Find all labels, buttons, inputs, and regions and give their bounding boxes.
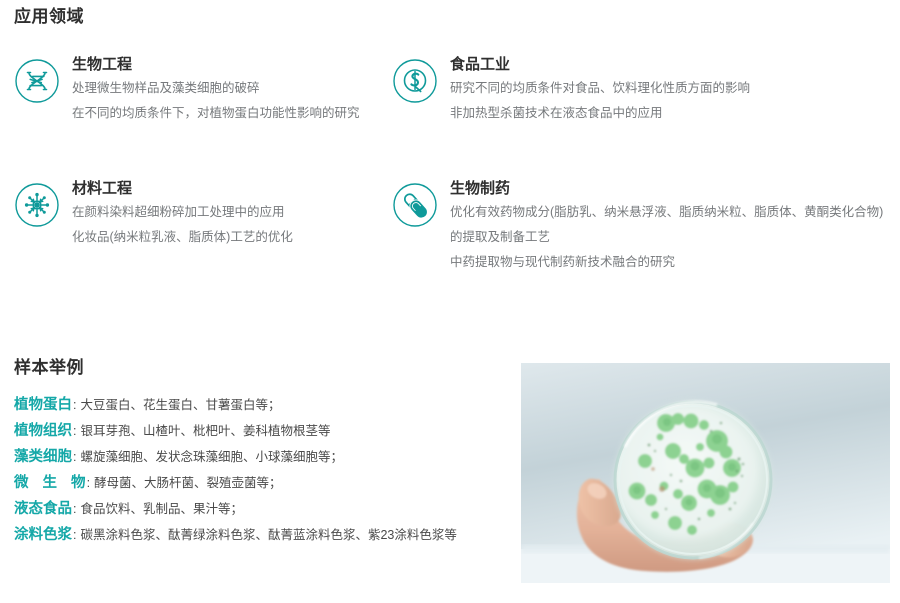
sample-value: 银耳芽孢、山楂叶、枇杷叶、姜科植物根茎等 [80, 422, 494, 440]
sample-label: 植物组织 [14, 422, 72, 440]
card-body: 生物制药 优化有效药物成分(脂肪乳、纳米悬浮液、脂质纳米粒、脂质体、黄酮类化合物… [450, 178, 892, 270]
application-card-biopharmaceutical: 生物制药 优化有效药物成分(脂肪乳、纳米悬浮液、脂质纳米粒、脂质体、黄酮类化合物… [392, 178, 892, 270]
card-body: 食品工业 研究不同的均质条件对食品、饮料理化性质方面的影响 非加热型杀菌技术在液… [450, 54, 892, 121]
card-line: 在不同的均质条件下，对植物蛋白功能性影响的研究 [72, 105, 394, 121]
card-title: 材料工程 [72, 179, 394, 199]
sample-label: 微 生 物 [14, 474, 91, 492]
card-line: 在颜料染料超细粉碎加工处理中的应用 [72, 204, 394, 220]
list-item: 微 生 物 : 酵母菌、大肠杆菌、裂殖壶菌等； [14, 474, 494, 492]
sample-label: 涂料色浆 [14, 526, 72, 544]
sample-separator: : [72, 396, 80, 414]
sample-separator: : [72, 526, 80, 544]
sample-separator: : [72, 500, 80, 518]
card-line: 处理微生物样品及藻类细胞的破碎 [72, 80, 394, 96]
sample-separator: : [72, 422, 80, 440]
list-item: 植物蛋白 : 大豆蛋白、花生蛋白、甘薯蛋白等； [14, 396, 494, 414]
list-item: 涂料色浆 : 碳黑涂料色浆、酞菁绿涂料色浆、酞菁蓝涂料色浆、紫23涂料色浆等 [14, 526, 494, 544]
dna-helix-icon [14, 58, 60, 104]
petri-dish-photo [521, 363, 890, 583]
card-line: 研究不同的均质条件对食品、饮料理化性质方面的影响 [450, 80, 892, 96]
application-card-material-engineering: 材料工程 在颜料染料超细粉碎加工处理中的应用 化妆品(纳米粒乳液、脂质体)工艺的… [14, 178, 394, 245]
sample-label: 液态食品 [14, 500, 72, 518]
page-title-applications: 应用领域 [14, 2, 84, 27]
list-item: 液态食品 : 食品饮料、乳制品、果汁等； [14, 500, 494, 518]
sample-value: 酵母菌、大肠杆菌、裂殖壶菌等； [94, 474, 494, 492]
sample-value: 大豆蛋白、花生蛋白、甘薯蛋白等； [80, 396, 494, 414]
sample-list: 植物蛋白 : 大豆蛋白、花生蛋白、甘薯蛋白等； 植物组织 : 银耳芽孢、山楂叶、… [14, 396, 494, 552]
card-line: 优化有效药物成分(脂肪乳、纳米悬浮液、脂质纳米粒、脂质体、黄酮类化合物) [450, 204, 892, 220]
food-safety-icon [392, 58, 438, 104]
sample-value: 螺旋藻细胞、发状念珠藻细胞、小球藻细胞等； [80, 448, 494, 466]
sample-label: 藻类细胞 [14, 448, 72, 466]
sample-value: 碳黑涂料色浆、酞菁绿涂料色浆、酞菁蓝涂料色浆、紫23涂料色浆等 [80, 526, 494, 544]
card-title: 生物工程 [72, 55, 394, 75]
card-title: 食品工业 [450, 55, 892, 75]
application-card-food-industry: 食品工业 研究不同的均质条件对食品、饮料理化性质方面的影响 非加热型杀菌技术在液… [392, 54, 892, 121]
sample-value: 食品饮料、乳制品、果汁等； [80, 500, 494, 518]
card-title: 生物制药 [450, 179, 892, 199]
sample-separator: : [72, 448, 80, 466]
card-body: 材料工程 在颜料染料超细粉碎加工处理中的应用 化妆品(纳米粒乳液、脂质体)工艺的… [72, 178, 394, 245]
capsule-pills-icon [392, 182, 438, 228]
page-title-samples: 样本举例 [14, 353, 84, 378]
card-line: 非加热型杀菌技术在液态食品中的应用 [450, 105, 892, 121]
sample-label: 植物蛋白 [14, 396, 72, 414]
sample-separator: : [86, 474, 94, 492]
card-body: 生物工程 处理微生物样品及藻类细胞的破碎 在不同的均质条件下，对植物蛋白功能性影… [72, 54, 394, 121]
list-item: 植物组织 : 银耳芽孢、山楂叶、枇杷叶、姜科植物根茎等 [14, 422, 494, 440]
card-line: 的提取及制备工艺 [450, 229, 892, 245]
application-card-bioengineering: 生物工程 处理微生物样品及藻类细胞的破碎 在不同的均质条件下，对植物蛋白功能性影… [14, 54, 394, 121]
molecule-lattice-icon [14, 182, 60, 228]
card-line: 化妆品(纳米粒乳液、脂质体)工艺的优化 [72, 229, 394, 245]
list-item: 藻类细胞 : 螺旋藻细胞、发状念珠藻细胞、小球藻细胞等； [14, 448, 494, 466]
card-line: 中药提取物与现代制药新技术融合的研究 [450, 254, 892, 270]
